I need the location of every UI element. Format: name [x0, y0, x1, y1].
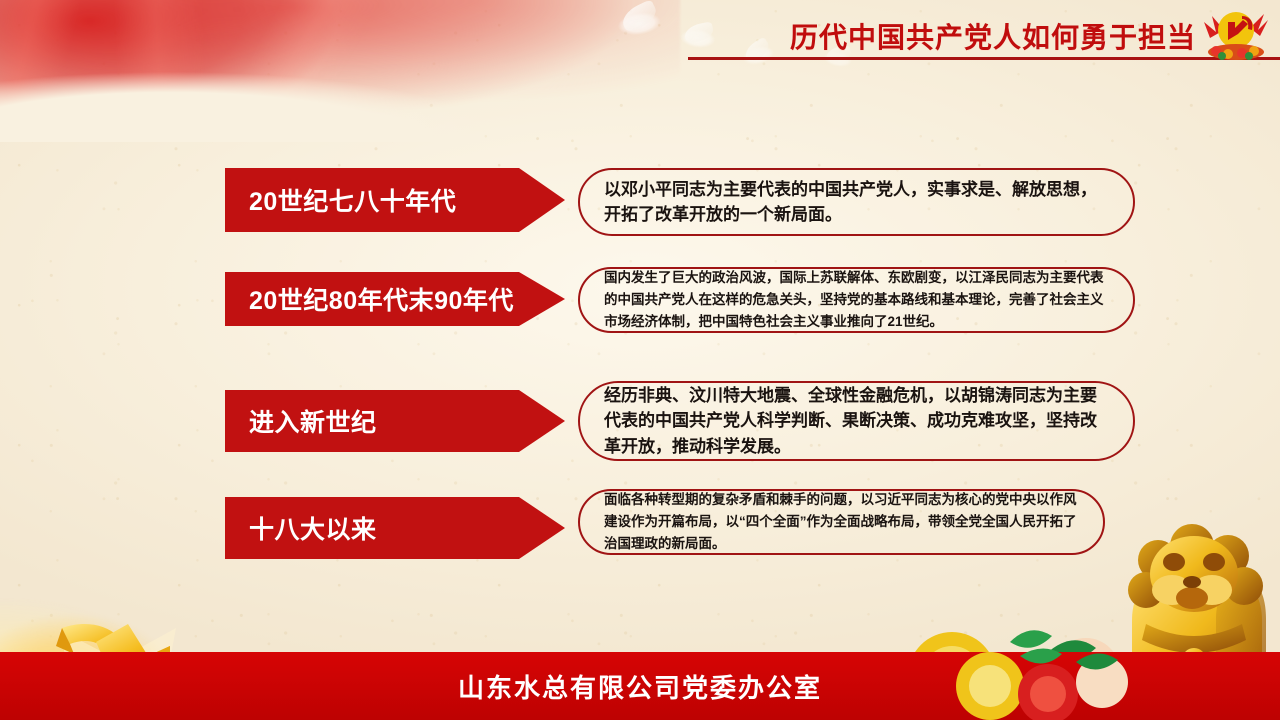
timeline-arrow-label: 十八大以来	[225, 510, 377, 546]
dove-icon	[675, 20, 722, 54]
timeline-bubble: 经历非典、汶川特大地震、全球性金融危机，以胡锦涛同志为主要代表的中国共产党人科学…	[578, 381, 1135, 461]
presentation-slide: 历代中国共产党人如何勇于担当 20世纪七八十年代	[0, 0, 1280, 720]
timeline-arrow-label: 20世纪七八十年代	[225, 182, 456, 218]
red-flag-fade	[0, 52, 660, 142]
timeline-arrow-label: 进入新世纪	[225, 403, 377, 439]
timeline-bubble-text: 以邓小平同志为主要代表的中国共产党人，实事求是、解放思想，开拓了改革开放的一个新…	[580, 177, 1133, 228]
header-divider	[688, 57, 1280, 60]
footer-text: 山东水总有限公司党委办公室	[0, 652, 1280, 720]
dove-icon	[610, 0, 668, 43]
timeline-arrow[interactable]: 进入新世纪	[225, 390, 565, 452]
party-emblem-icon	[1198, 6, 1274, 60]
timeline-bubble-text: 经历非典、汶川特大地震、全球性金融危机，以胡锦涛同志为主要代表的中国共产党人科学…	[580, 383, 1133, 460]
timeline-bubble: 以邓小平同志为主要代表的中国共产党人，实事求是、解放思想，开拓了改革开放的一个新…	[578, 168, 1135, 236]
timeline-bubble: 国内发生了巨大的政治风波，国际上苏联解体、东欧剧变，以江泽民同志为主要代表的中国…	[578, 267, 1135, 333]
timeline-bubble-text: 面临各种转型期的复杂矛盾和棘手的问题，以习近平同志为核心的党中央以作风建设作为开…	[580, 489, 1103, 555]
timeline-bubble: 面临各种转型期的复杂矛盾和棘手的问题，以习近平同志为核心的党中央以作风建设作为开…	[578, 489, 1105, 555]
page-title: 历代中国共产党人如何勇于担当	[790, 16, 1196, 56]
timeline-arrow-label: 20世纪80年代末90年代	[225, 281, 514, 317]
timeline-bubble-text: 国内发生了巨大的政治风波，国际上苏联解体、东欧剧变，以江泽民同志为主要代表的中国…	[580, 267, 1133, 334]
timeline-arrow[interactable]: 20世纪80年代末90年代	[225, 272, 565, 326]
timeline-arrow[interactable]: 十八大以来	[225, 497, 565, 559]
timeline-arrow[interactable]: 20世纪七八十年代	[225, 168, 565, 232]
